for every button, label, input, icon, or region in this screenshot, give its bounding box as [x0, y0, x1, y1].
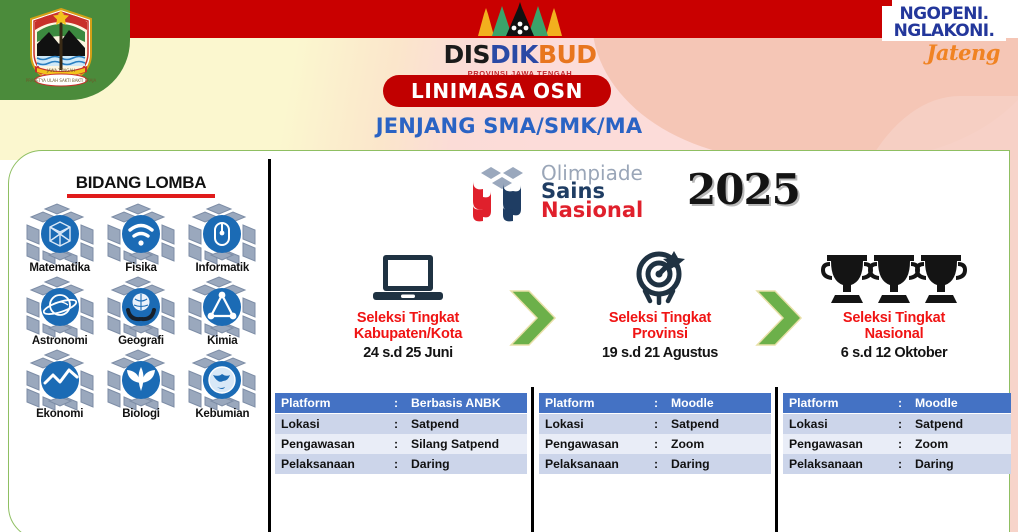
subject-item-biologi[interactable]: Biologi	[100, 349, 181, 420]
leaf-sprout-icon	[104, 349, 178, 411]
table-row: Pelaksanaan : Daring	[275, 454, 527, 474]
info-table-kabupaten: Platform : Berbasis ANBK Lokasi : Satpen…	[275, 393, 527, 474]
table-cell-value: Moodle	[909, 393, 1011, 414]
table-cell-value: Berbasis ANBK	[405, 393, 527, 414]
table-cell-value: Daring	[665, 454, 771, 474]
table-divider-1	[531, 387, 534, 532]
subject-label: Fisika	[100, 262, 181, 274]
stage-title: Seleksi Tingkat Nasional	[787, 311, 1001, 342]
logo-text-dis: DIS	[443, 40, 490, 69]
target-dart-icon	[630, 249, 690, 305]
stage-date: 24 s.d 25 Juni	[295, 345, 521, 361]
table-cell-label: Lokasi	[539, 414, 647, 435]
svg-text:PRASETYA ULAH SAKTI BAKTI PRAJ: PRASETYA ULAH SAKTI BAKTI PRAJA	[26, 78, 97, 83]
osn-year: 2025	[687, 165, 800, 214]
planet-saturn-icon	[23, 276, 97, 338]
table-row: Lokasi : Satpend	[783, 414, 1011, 435]
table-row: Platform : Moodle	[539, 393, 771, 414]
cube-wireframe-icon	[23, 203, 97, 265]
table-cell-label: Pelaksanaan	[275, 454, 387, 474]
subject-item-ekonomi[interactable]: Ekonomi	[19, 349, 100, 420]
computer-mouse-icon	[185, 203, 259, 265]
table-cell-colon: :	[891, 414, 909, 435]
osn-timeline-poster: JAWA TENGAH PRASETYA ULAH SAKTI BAKTI PR…	[0, 0, 1018, 532]
stage-icon-wrap	[787, 251, 1001, 305]
table-cell-label: Lokasi	[275, 414, 387, 435]
central-java-emblem-icon: JAWA TENGAH PRASETYA ULAH SAKTI BAKTI PR…	[25, 6, 97, 88]
chart-line-icon	[23, 349, 97, 411]
table-cell-colon: :	[891, 434, 909, 454]
stage-provinsi: Seleksi Tingkat Provinsi 19 s.d 21 Agust…	[549, 251, 771, 361]
subject-label: Kebumian	[182, 408, 263, 420]
subject-item-astronomi[interactable]: Astronomi	[19, 276, 100, 347]
tagline-line-2: NGLAKONI.	[882, 23, 1006, 40]
subject-label: Astronomi	[19, 335, 100, 347]
table-row: Lokasi : Satpend	[539, 414, 771, 435]
subject-item-kebumian[interactable]: Kebumian	[182, 349, 263, 420]
subject-item-matematika[interactable]: Matematika	[19, 203, 100, 274]
wifi-wave-icon	[104, 203, 178, 265]
disdikbud-logo: DISDIKBUD PROVINSI JAWA TENGAH	[440, 2, 600, 78]
temple-stupa-icon	[440, 2, 600, 36]
table-cell-value: Zoom	[665, 434, 771, 454]
subject-grid: Matematika	[19, 203, 263, 420]
table-row: Pelaksanaan : Daring	[783, 454, 1011, 474]
table-cell-colon: :	[647, 414, 665, 435]
svg-text:JAWA TENGAH: JAWA TENGAH	[46, 68, 75, 73]
table-cell-label: Pengawasan	[539, 434, 647, 454]
table-cell-label: Pelaksanaan	[539, 454, 647, 474]
table-cell-colon: :	[647, 393, 665, 414]
table-cell-value: Satpend	[909, 414, 1011, 435]
table-cell-label: Pelaksanaan	[783, 454, 891, 474]
table-divider-2	[775, 387, 778, 532]
stage-date: 19 s.d 21 Agustus	[549, 345, 771, 361]
table-cell-value: Daring	[405, 454, 527, 474]
table-cell-label: Pengawasan	[783, 434, 891, 454]
table-row: Pelaksanaan : Daring	[539, 454, 771, 474]
stage-title: Seleksi Tingkat Provinsi	[549, 311, 771, 342]
table-row: Pengawasan : Zoom	[539, 434, 771, 454]
trophies-icon	[819, 251, 969, 305]
table-cell-label: Platform	[783, 393, 891, 414]
table-cell-value: Moodle	[665, 393, 771, 414]
stage-title-line1: Seleksi Tingkat	[609, 310, 711, 326]
table-cell-label: Platform	[275, 393, 387, 414]
table-row: Pengawasan : Zoom	[783, 434, 1011, 454]
stage-title-line2: Provinsi	[632, 326, 688, 342]
table-cell-colon: :	[647, 434, 665, 454]
table-row: Platform : Berbasis ANBK	[275, 393, 527, 414]
table-cell-colon: :	[891, 393, 909, 414]
vertical-divider	[268, 159, 271, 532]
subject-item-informatik[interactable]: Informatik	[182, 203, 263, 274]
table-cell-colon: :	[387, 434, 405, 454]
bidang-lomba-heading: BIDANG LOMBA	[21, 173, 261, 198]
table-cell-colon: :	[387, 454, 405, 474]
info-table-nasional: Platform : Moodle Lokasi : Satpend Penga…	[783, 393, 1011, 474]
table-row: Platform : Moodle	[783, 393, 1011, 414]
earth-globe-icon	[185, 349, 259, 411]
osn-logo: Olimpiade Sains Nasional	[467, 161, 643, 223]
info-table-provinsi: Platform : Moodle Lokasi : Satpend Penga…	[539, 393, 771, 474]
table-cell-label: Lokasi	[783, 414, 891, 435]
table-cell-value: Satpend	[665, 414, 771, 435]
stage-icon-wrap	[295, 251, 521, 305]
subject-item-kimia[interactable]: Kimia	[182, 276, 263, 347]
osn-text-nasional: Nasional	[541, 200, 643, 221]
logo-text-dik: DIK	[490, 40, 538, 69]
page-subtitle: JENJANG SMA/SMK/MA	[0, 114, 1018, 138]
stage-title-line1: Seleksi Tingkat	[357, 310, 459, 326]
stage-title-line1: Seleksi Tingkat	[843, 310, 945, 326]
table-cell-value: Silang Satpend	[405, 434, 527, 454]
subject-label: Matematika	[19, 262, 100, 274]
logo-text-bud: BUD	[538, 40, 597, 69]
stage-title-line2: Kabupaten/Kota	[354, 326, 462, 342]
table-cell-value: Satpend	[405, 414, 527, 435]
page-title: LINIMASA OSN	[383, 75, 611, 107]
subject-label: Ekonomi	[19, 408, 100, 420]
molecule-triangle-icon	[185, 276, 259, 338]
stage-date: 6 s.d 12 Oktober	[787, 345, 1001, 361]
subject-label: Kimia	[182, 335, 263, 347]
globe-hands-icon	[104, 276, 178, 338]
table-cell-label: Platform	[539, 393, 647, 414]
table-cell-value: Daring	[909, 454, 1011, 474]
table-cell-colon: :	[387, 414, 405, 435]
stage-title-line2: Nasional	[865, 326, 924, 342]
subject-item-fisika[interactable]: Fisika	[100, 203, 181, 274]
subject-label: Informatik	[182, 262, 263, 274]
table-cell-colon: :	[647, 454, 665, 474]
subject-label: Geografi	[100, 335, 181, 347]
table-row: Lokasi : Satpend	[275, 414, 527, 435]
stage-nasional: Seleksi Tingkat Nasional 6 s.d 12 Oktobe…	[787, 251, 1001, 361]
stage-icon-wrap	[549, 251, 771, 305]
jateng-tagline: NGOPENI. NGLAKONI. Jateng	[882, 6, 1006, 65]
bidang-lomba-label: BIDANG LOMBA	[76, 173, 207, 192]
table-cell-colon: :	[387, 393, 405, 414]
stage-kabupaten-kota: Seleksi Tingkat Kabupaten/Kota 24 s.d 25…	[295, 251, 521, 361]
laptop-icon	[367, 251, 449, 305]
subject-label: Biologi	[100, 408, 181, 420]
osn-cube-icon	[467, 161, 535, 223]
table-row: Pengawasan : Silang Satpend	[275, 434, 527, 454]
table-cell-label: Pengawasan	[275, 434, 387, 454]
tagline-jateng: Jateng	[882, 40, 1006, 65]
heading-underline	[67, 194, 215, 198]
stage-title: Seleksi Tingkat Kabupaten/Kota	[295, 311, 521, 342]
content-card: BIDANG LOMBA	[8, 150, 1010, 532]
subject-item-geografi[interactable]: Geografi	[100, 276, 181, 347]
table-cell-value: Zoom	[909, 434, 1011, 454]
table-cell-colon: :	[891, 454, 909, 474]
